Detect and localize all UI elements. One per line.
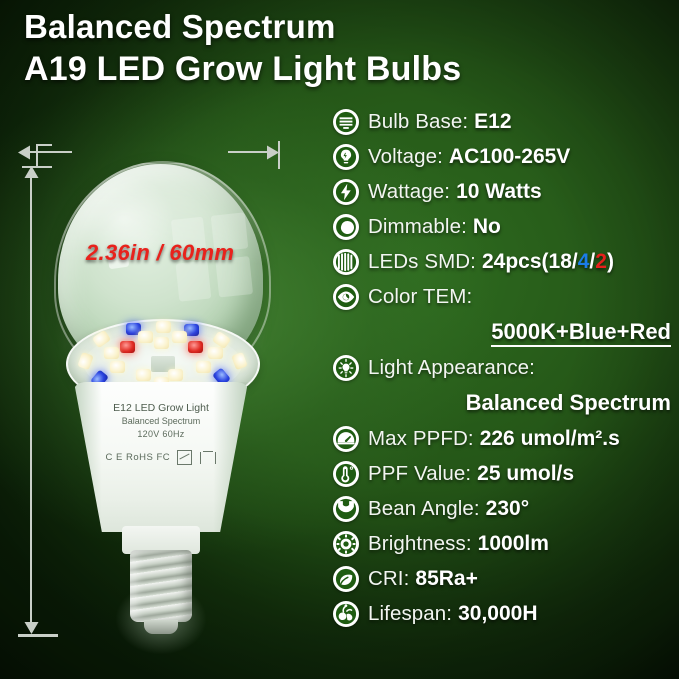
led-white xyxy=(110,361,125,373)
bulb-voltage-text: 120V 60Hz xyxy=(74,428,248,441)
led-white xyxy=(172,331,187,343)
spec-label: Brightness: xyxy=(368,532,472,556)
spec-label: Wattage: xyxy=(368,180,450,204)
certification-text: C E RoHS FC xyxy=(106,452,171,463)
spec-label: Bean Angle: xyxy=(368,497,480,521)
page-title: Balanced Spectrum A19 LED Grow Light Bul… xyxy=(0,6,679,90)
led-white xyxy=(196,361,211,373)
value-segment: Red xyxy=(629,319,671,347)
spec-row: CRI:85Ra+ xyxy=(333,561,679,596)
spec-row: Voltage:AC100-265V xyxy=(333,139,679,174)
led-red xyxy=(120,341,135,353)
bulb-spectrum-text: Balanced Spectrum xyxy=(74,415,248,428)
led-white xyxy=(154,337,169,349)
spec-row-continuation: Balanced Spectrum xyxy=(333,385,679,421)
value-segment: 24pcs(18 xyxy=(482,250,572,273)
spec-label: CRI: xyxy=(368,567,409,591)
bulb-body-text: E12 LED Grow Light Balanced Spectrum 120… xyxy=(74,402,248,441)
spec-row: Bulb Base:E12 xyxy=(333,104,679,139)
spec-value: Balanced Spectrum xyxy=(466,390,671,416)
spec-row: Lifespan:30,000H xyxy=(333,596,679,631)
spec-value: 24pcs(18/4/2) xyxy=(482,250,614,274)
title-line-2: A19 LED Grow Light Bulbs xyxy=(24,48,679,90)
spec-label: Voltage: xyxy=(368,145,443,169)
spec-row-continuation: 5000K+Blue+Red xyxy=(333,314,679,350)
value-segment: 5000K+ xyxy=(491,319,569,347)
spec-row: Bean Angle:230° xyxy=(333,491,679,526)
value-text: E12 xyxy=(474,110,511,133)
height-guide-bottom-horizontal xyxy=(18,634,58,637)
value-text: 226 umol/m².s xyxy=(480,427,620,450)
value-segment: 2 xyxy=(595,250,607,273)
specifications-list: Bulb Base:E12Voltage:AC100-265VWattage:1… xyxy=(333,104,679,631)
width-guide-left-vertical xyxy=(36,144,38,166)
spec-row: Light Appearance: xyxy=(333,350,679,385)
value-text: 10 Watts xyxy=(456,180,542,203)
value-text: 230° xyxy=(486,497,529,520)
value-text: 25 umol/s xyxy=(477,462,574,485)
spec-row: Dimmable:No xyxy=(333,209,679,244)
width-guide-left-horizontal xyxy=(36,144,52,146)
width-arrow-line-right xyxy=(228,151,272,153)
spec-label: LEDs SMD: xyxy=(368,250,476,274)
bulb-model-text: E12 LED Grow Light xyxy=(74,402,248,415)
value-text: 1000lm xyxy=(478,532,549,555)
value-segment: + xyxy=(617,319,630,347)
spec-label: Dimmable: xyxy=(368,215,467,239)
voltage-bulb-icon xyxy=(333,144,359,170)
value-text: 85Ra+ xyxy=(415,567,477,590)
ppfd-gauge-icon xyxy=(333,426,359,452)
value-text: No xyxy=(473,215,501,238)
product-image-panel: E12 LED Grow Light Balanced Spectrum 120… xyxy=(0,96,330,679)
cri-leaf-icon xyxy=(333,566,359,592)
width-guide-right-vertical xyxy=(278,141,280,169)
spec-value: 230° xyxy=(486,497,529,521)
light-appearance-icon xyxy=(333,355,359,381)
spec-label: Lifespan: xyxy=(368,602,452,626)
lightning-bolt-icon xyxy=(333,179,359,205)
dimmable-crescent-icon xyxy=(333,214,359,240)
led-white xyxy=(136,369,151,381)
width-dimension-label: 2.36in / 60mm xyxy=(86,240,234,266)
infographic-canvas: Balanced Spectrum A19 LED Grow Light Bul… xyxy=(0,0,679,679)
spec-value: 226 umol/m².s xyxy=(480,427,620,451)
spec-value: E12 xyxy=(474,110,511,134)
led-white xyxy=(138,331,153,343)
spec-row: Brightness:1000lm xyxy=(333,526,679,561)
spec-row: Color TEM: xyxy=(333,279,679,314)
spec-value: AC100-265V xyxy=(449,145,570,169)
led-white xyxy=(168,369,183,381)
thermometer-icon xyxy=(333,461,359,487)
value-text: 30,000H xyxy=(458,602,537,625)
spec-value: 1000lm xyxy=(478,532,549,556)
beam-angle-icon xyxy=(333,496,359,522)
spec-value: 30,000H xyxy=(458,602,537,626)
bulb-certification-marks: C E RoHS FC xyxy=(74,450,248,465)
spec-value: 10 Watts xyxy=(456,180,542,204)
lifespan-icon xyxy=(333,601,359,627)
color-temp-eye-icon xyxy=(333,284,359,310)
e12-screw-base xyxy=(130,550,192,622)
spec-value: 25 umol/s xyxy=(477,462,574,486)
spec-label: PPF Value: xyxy=(368,462,471,486)
spec-row: Max PPFD:226 umol/m².s xyxy=(333,421,679,456)
spec-label: Color TEM: xyxy=(368,285,472,309)
spec-label: Max PPFD: xyxy=(368,427,474,451)
spec-label: Light Appearance: xyxy=(368,356,535,380)
led-white xyxy=(104,347,119,359)
brightness-sun-icon xyxy=(333,531,359,557)
title-line-1: Balanced Spectrum xyxy=(24,6,679,48)
spec-value: 5000K+Blue+Red xyxy=(491,319,671,345)
spec-value: No xyxy=(473,215,501,239)
height-arrow-line xyxy=(30,172,32,632)
spec-value: 85Ra+ xyxy=(415,567,477,591)
base-contact-tip xyxy=(144,620,178,634)
led-red xyxy=(188,341,203,353)
spec-row: Wattage:10 Watts xyxy=(333,174,679,209)
bulb-base-icon xyxy=(333,109,359,135)
led-white xyxy=(208,347,223,359)
spec-label: Bulb Base: xyxy=(368,110,468,134)
value-segment: 4 xyxy=(578,250,590,273)
recycle-triangle-icon xyxy=(200,452,216,464)
value-text: AC100-265V xyxy=(449,145,570,168)
spec-row: LEDs SMD:24pcs(18/4/2) xyxy=(333,244,679,279)
spec-row: PPF Value:25 umol/s xyxy=(333,456,679,491)
value-segment: ) xyxy=(607,250,614,273)
led-white xyxy=(156,321,171,333)
height-guide-top-horizontal xyxy=(22,166,52,168)
led-strip-icon xyxy=(333,249,359,275)
width-arrow-line-left xyxy=(22,151,72,153)
weee-bin-icon xyxy=(177,450,192,465)
value-segment: Blue xyxy=(569,319,617,347)
